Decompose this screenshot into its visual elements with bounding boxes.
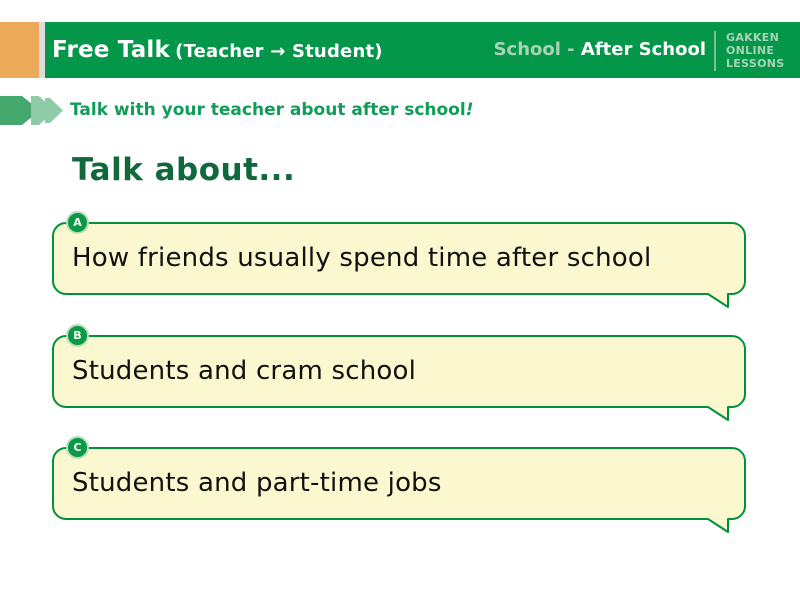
brand-logo-line-2: Online bbox=[726, 44, 792, 57]
topic-text: Students and cram school bbox=[72, 335, 416, 407]
header-orange-accent-block bbox=[0, 22, 39, 78]
page-title-main: Free Talk bbox=[52, 37, 170, 63]
brand-logo-line-3: Lessons bbox=[726, 57, 792, 70]
topic-bubble[interactable]: A How friends usually spend time after s… bbox=[52, 222, 746, 294]
instruction-row: Talk with your teacher about after schoo… bbox=[0, 96, 800, 126]
breadcrumb: School - After School bbox=[494, 22, 706, 78]
topic-bubble[interactable]: B Students and cram school bbox=[52, 335, 746, 407]
topic-text: How friends usually spend time after sch… bbox=[72, 222, 651, 294]
page-title: Free Talk (Teacher → Student) bbox=[52, 22, 383, 78]
double-chevron-arrow-icon bbox=[0, 96, 64, 125]
instruction-exclamation: ! bbox=[466, 100, 474, 120]
section-heading: Talk about... bbox=[72, 152, 295, 188]
breadcrumb-parent: School - bbox=[494, 39, 581, 60]
slide-header: Free Talk (Teacher → Student) School - A… bbox=[0, 22, 800, 78]
instruction-text: Talk with your teacher about after schoo… bbox=[70, 96, 473, 125]
instruction-sentence: Talk with your teacher about after schoo… bbox=[70, 100, 466, 120]
brand-logo: Gakken Online Lessons bbox=[714, 31, 792, 71]
topic-bubble[interactable]: C Students and part-time jobs bbox=[52, 447, 746, 519]
page-title-sub: (Teacher → Student) bbox=[175, 41, 383, 62]
brand-logo-line-1: Gakken bbox=[726, 31, 792, 44]
topic-text: Students and part-time jobs bbox=[72, 447, 442, 519]
breadcrumb-current: After School bbox=[581, 39, 706, 60]
